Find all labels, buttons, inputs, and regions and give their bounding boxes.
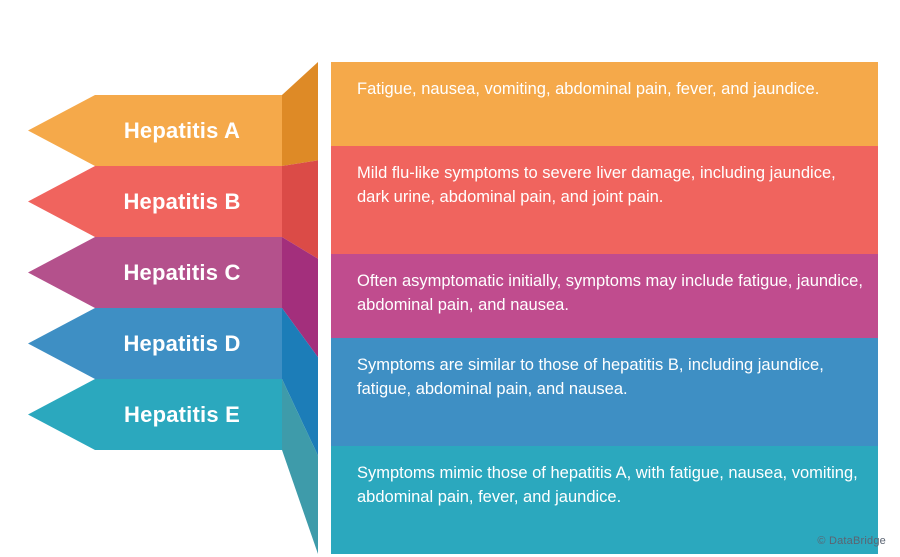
chevron-shape[interactable] — [28, 95, 282, 166]
chevron-shape[interactable] — [28, 237, 282, 308]
description-text: Mild flu-like symptoms to severe liver d… — [357, 162, 867, 210]
description-panel — [331, 62, 878, 146]
description-text: Fatigue, nausea, vomiting, abdominal pai… — [357, 78, 867, 102]
hepatitis-types-infographic: Hepatitis AHepatitis BHepatitis CHepatit… — [0, 0, 900, 557]
description-text: Symptoms are similar to those of hepatit… — [357, 354, 867, 402]
chevron-fold-tab — [282, 62, 318, 166]
description-text: Symptoms mimic those of hepatitis A, wit… — [357, 462, 867, 510]
credit-watermark: © DataBridge — [817, 535, 886, 547]
chevron-shape[interactable] — [28, 379, 282, 450]
chevron-shape[interactable] — [28, 166, 282, 237]
description-text: Often asymptomatic initially, symptoms m… — [357, 270, 867, 318]
chevron-shape[interactable] — [28, 308, 282, 379]
